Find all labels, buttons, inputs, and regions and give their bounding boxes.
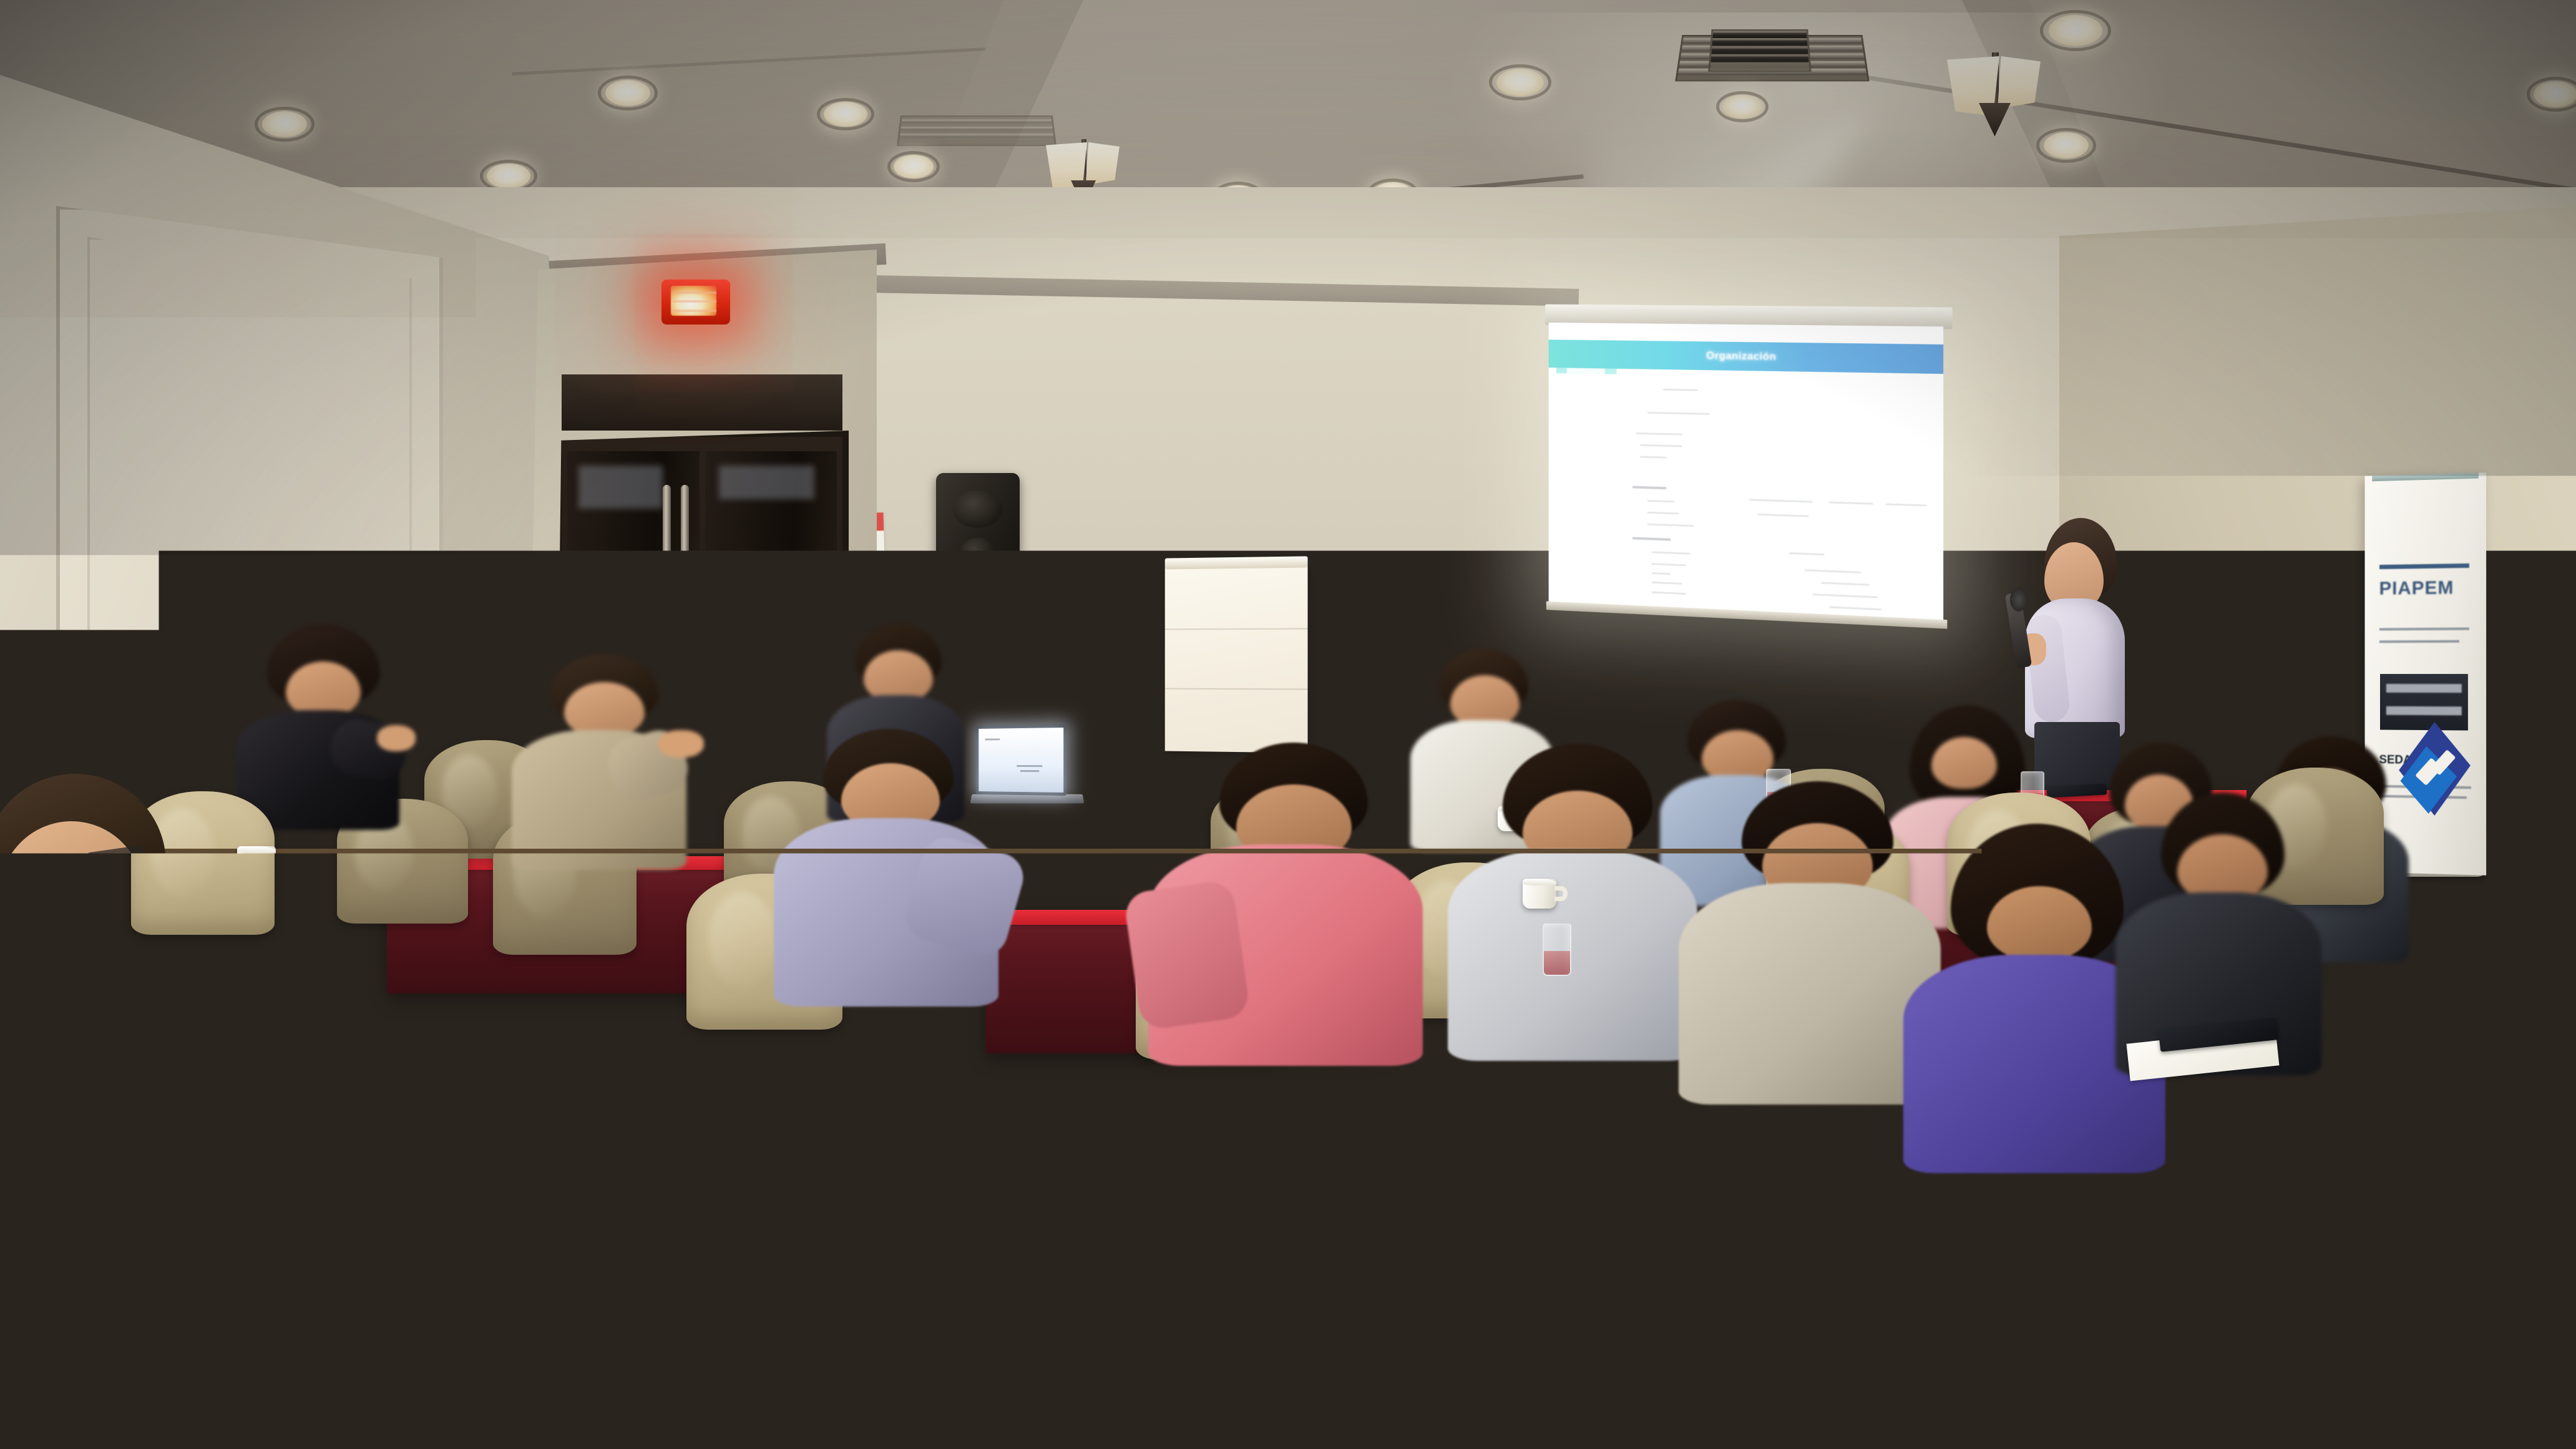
recessed-downlight bbox=[1722, 95, 1762, 119]
chair[interactable] bbox=[2271, 924, 2434, 1086]
audience-member bbox=[512, 654, 686, 854]
coffee-mug-tall bbox=[1609, 1290, 1697, 1409]
recessed-downlight bbox=[894, 155, 934, 178]
recessed-downlight bbox=[1496, 69, 1544, 96]
vest-texture bbox=[895, 1269, 1135, 1449]
chair[interactable] bbox=[1485, 1023, 1679, 1217]
hvac-vent-dark-section bbox=[1708, 29, 1812, 72]
recessed-downlight bbox=[2044, 132, 2089, 159]
door-transom bbox=[562, 374, 842, 431]
pendant-light-fixture bbox=[1046, 142, 1120, 191]
recessed-downlight bbox=[2534, 81, 2576, 107]
pastry bbox=[1772, 1433, 1832, 1449]
coffee-mug bbox=[715, 749, 740, 771]
water-glass bbox=[542, 1078, 603, 1206]
microphone-head bbox=[2010, 588, 2028, 612]
flipchart-pad bbox=[1165, 563, 1308, 753]
recessed-downlight bbox=[605, 80, 650, 106]
fire-alarm-strobe-light bbox=[661, 280, 730, 324]
coffee-mug bbox=[499, 854, 537, 887]
presentation-slide: Organización bbox=[1549, 323, 1944, 621]
projection-screen: Organización bbox=[1549, 323, 1944, 621]
fire-alarm-pull-station bbox=[459, 650, 485, 685]
recessed-downlight bbox=[824, 102, 867, 127]
banner-wordmark: PIAPEM bbox=[2379, 577, 2472, 600]
audience-member-foreground-right bbox=[867, 1061, 1329, 1449]
handbag bbox=[1953, 1239, 2153, 1449]
recessed-downlight bbox=[262, 111, 307, 137]
recessed-downlight bbox=[487, 163, 530, 188]
slide-body bbox=[1549, 373, 1944, 621]
projection-screen-surface: Organización bbox=[1549, 323, 1944, 621]
coffee-mug bbox=[237, 846, 276, 881]
pa-speaker bbox=[936, 473, 1020, 598]
hvac-vent bbox=[897, 115, 1056, 146]
chair[interactable] bbox=[1797, 1061, 1997, 1261]
recessed-downlight bbox=[2049, 15, 2102, 46]
chair[interactable] bbox=[2078, 949, 2234, 1105]
slide-title: Organización bbox=[1706, 349, 1776, 363]
conference-room-photo: Organización bbox=[0, 0, 2576, 1449]
pendant-light-fixture bbox=[1947, 56, 2041, 116]
soda-can[interactable] bbox=[456, 1122, 515, 1227]
